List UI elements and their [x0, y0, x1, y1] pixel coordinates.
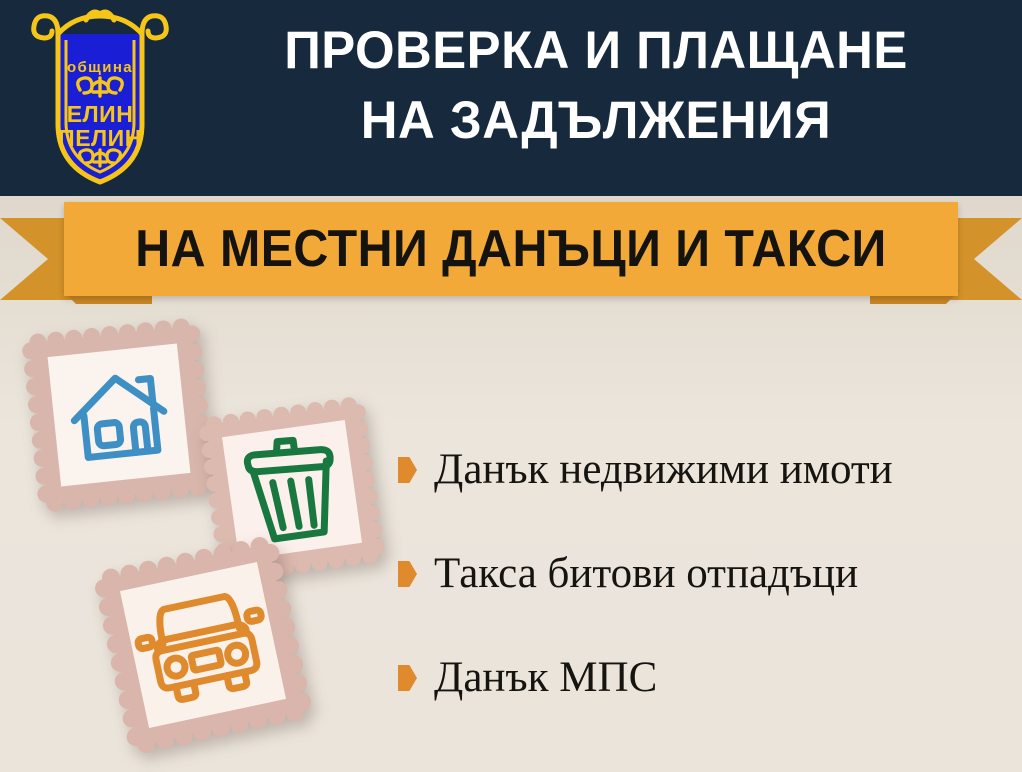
poster-title: ПРОВЕРКА И ПЛАЩАНЕ НА ЗАДЪЛЖЕНИЯ: [186, 16, 1006, 156]
ribbon-banner: НА МЕСТНИ ДАНЪЦИ И ТАКСИ: [0, 196, 1022, 312]
poster-canvas: община ЕЛИН ПЕЛИН: [0, 0, 1022, 772]
svg-text:ЕЛИН: ЕЛИН: [67, 101, 134, 127]
ribbon-band: НА МЕСТНИ ДАНЪЦИ И ТАКСИ: [64, 202, 958, 296]
list-item-label: Такса битови отпадъци: [434, 550, 858, 598]
tax-type-list: Данък недвижими имоти Такса битови отпад…: [398, 418, 1013, 730]
ribbon-label: НА МЕСТНИ ДАНЪЦИ И ТАКСИ: [135, 223, 886, 275]
title-line-1: ПРОВЕРКА И ПЛАЩАНЕ: [202, 16, 989, 86]
arrow-bullet-icon: [398, 457, 417, 483]
list-item-label: Данък недвижими имоти: [434, 446, 893, 494]
svg-text:община: община: [67, 59, 133, 76]
list-item[interactable]: Данък МПС: [398, 626, 1013, 730]
stamp-card-group: [0, 300, 420, 772]
arrow-bullet-icon: [398, 665, 417, 691]
list-item[interactable]: Такса битови отпадъци: [398, 522, 1013, 626]
header-bar: община ЕЛИН ПЕЛИН: [0, 0, 1022, 196]
arrow-bullet-icon: [398, 561, 417, 587]
title-line-2: НА ЗАДЪЛЖЕНИЯ: [202, 86, 989, 156]
stamp-card-vehicle: [88, 530, 318, 760]
list-item[interactable]: Данък недвижими имоти: [398, 418, 1013, 522]
elin-pelin-coat-of-arms-icon: община ЕЛИН ПЕЛИН: [24, 6, 176, 188]
svg-text:ПЕЛИН: ПЕЛИН: [58, 125, 142, 151]
list-item-label: Данък МПС: [434, 654, 657, 702]
